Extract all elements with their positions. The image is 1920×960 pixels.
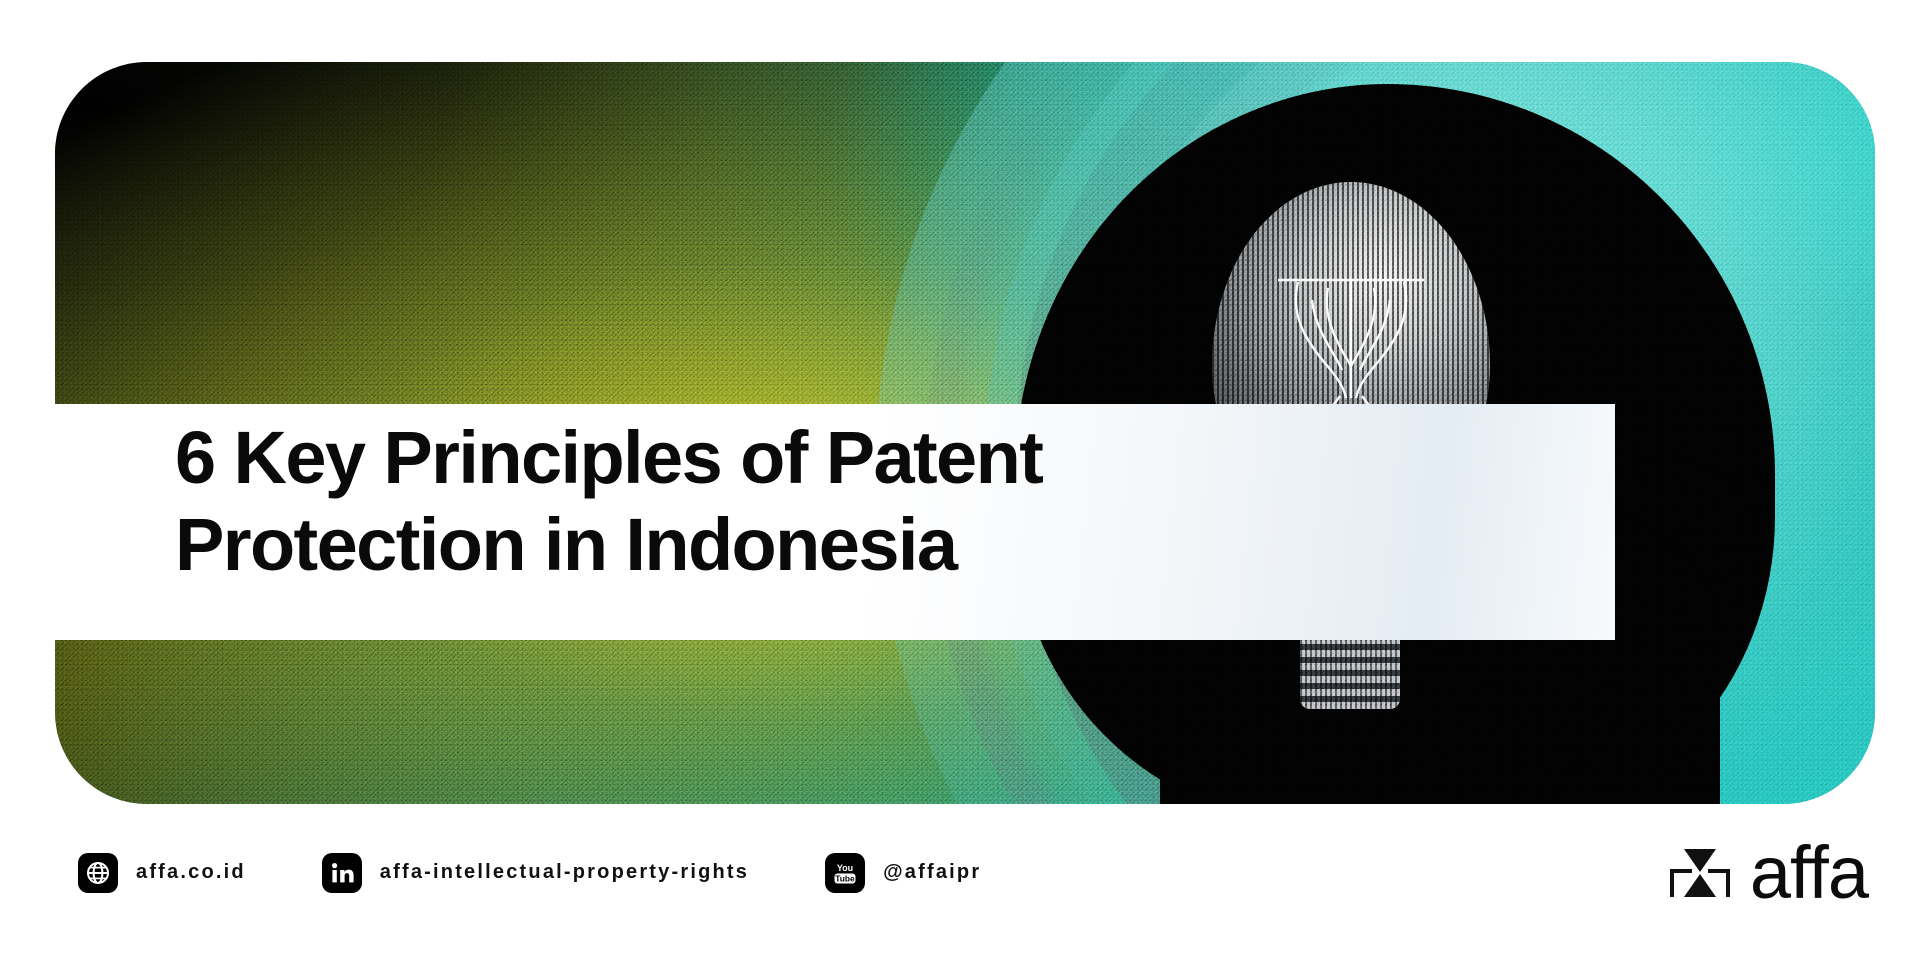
brand-wordmark: affa [1750,836,1868,910]
svg-text:You: You [837,863,853,873]
page-title-line-2: Protection in Indonesia [175,501,1295,588]
social-label-youtube: @affaipr [883,861,981,884]
social-link-website[interactable]: affa.co.id [78,853,246,893]
affa-logo-mark-icon [1668,841,1732,905]
brand-logo: affa [1668,836,1868,910]
linkedin-icon [322,853,362,893]
social-link-youtube[interactable]: You Tube @affaipr [825,853,981,893]
globe-icon [78,853,118,893]
footer: affa.co.id affa-intellectual-property-ri… [0,815,1920,930]
svg-text:Tube: Tube [835,873,855,883]
page-title: 6 Key Principles of Patent Protection in… [175,414,1295,589]
social-link-linkedin[interactable]: affa-intellectual-property-rights [322,853,749,893]
youtube-icon: You Tube [825,853,865,893]
social-label-website: affa.co.id [136,861,246,884]
social-label-linkedin: affa-intellectual-property-rights [380,861,749,884]
social-links: affa.co.id affa-intellectual-property-ri… [0,853,981,893]
hero-card: 6 Key Principles of Patent Protection in… [55,62,1875,804]
page-title-line-1: 6 Key Principles of Patent [175,414,1295,501]
slide-canvas: 6 Key Principles of Patent Protection in… [0,0,1920,960]
